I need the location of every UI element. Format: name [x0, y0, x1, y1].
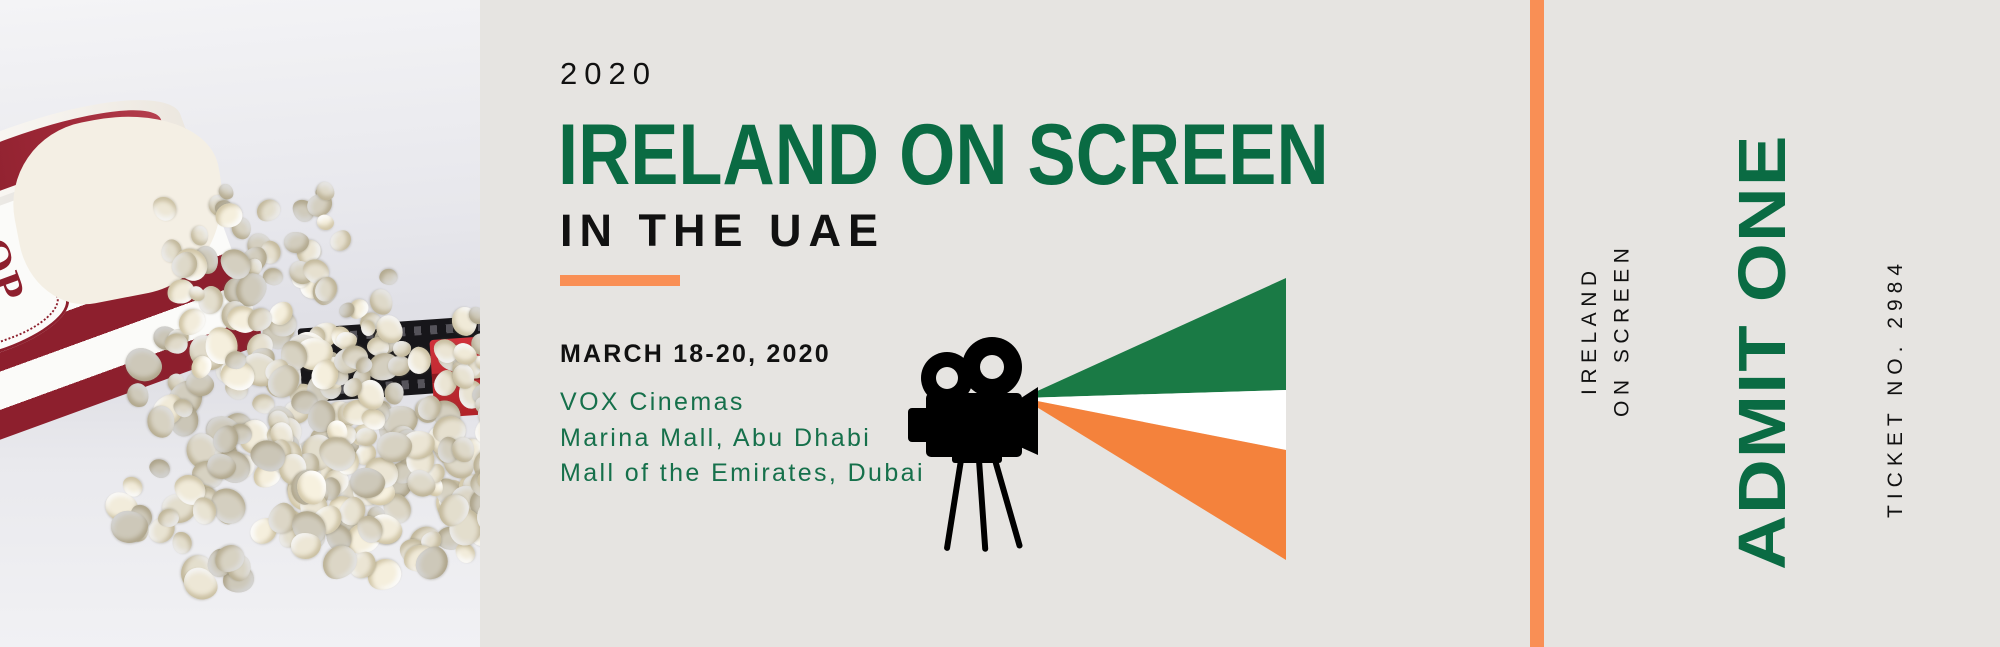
- movie-camera-icon: [900, 250, 1290, 580]
- ticket-main-panel: 2020 IRELAND ON SCREEN IN THE UAE MARCH …: [480, 0, 1530, 647]
- popcorn-kernel: [225, 351, 246, 369]
- popcorn-kernel: [291, 533, 321, 559]
- venue-list: VOX Cinemas Marina Mall, Abu Dhabi Mall …: [560, 385, 925, 492]
- event-ticket: POPCORN 2020 IRELAND ON SCREEN IN THE UA…: [0, 0, 2000, 647]
- popcorn-photo: POPCORN: [0, 0, 480, 647]
- camera-body: [908, 337, 1038, 552]
- admit-one-label: ADMIT ONE: [1724, 90, 1801, 570]
- popcorn-kernel: [392, 340, 411, 357]
- event-subtitle: IN THE UAE: [560, 205, 885, 257]
- venue-line: VOX Cinemas: [560, 385, 925, 421]
- orange-divider-bar: [560, 275, 680, 286]
- perforation-divider: [1530, 0, 1544, 647]
- venue-line: Mall of the Emirates, Dubai: [560, 456, 925, 492]
- ticket-number: TICKET NO. 2984: [1884, 118, 1908, 518]
- stub-brand-label: IRELANDON SCREEN: [1574, 120, 1639, 540]
- ticket-stub: IRELANDON SCREEN ADMIT ONE TICKET NO. 29…: [1544, 0, 2000, 647]
- event-year: 2020: [560, 56, 657, 92]
- event-date: MARCH 18-20, 2020: [560, 340, 831, 369]
- beam-green: [1022, 278, 1286, 398]
- event-title: IRELAND ON SCREEN: [558, 112, 1329, 198]
- venue-line: Marina Mall, Abu Dhabi: [560, 421, 925, 457]
